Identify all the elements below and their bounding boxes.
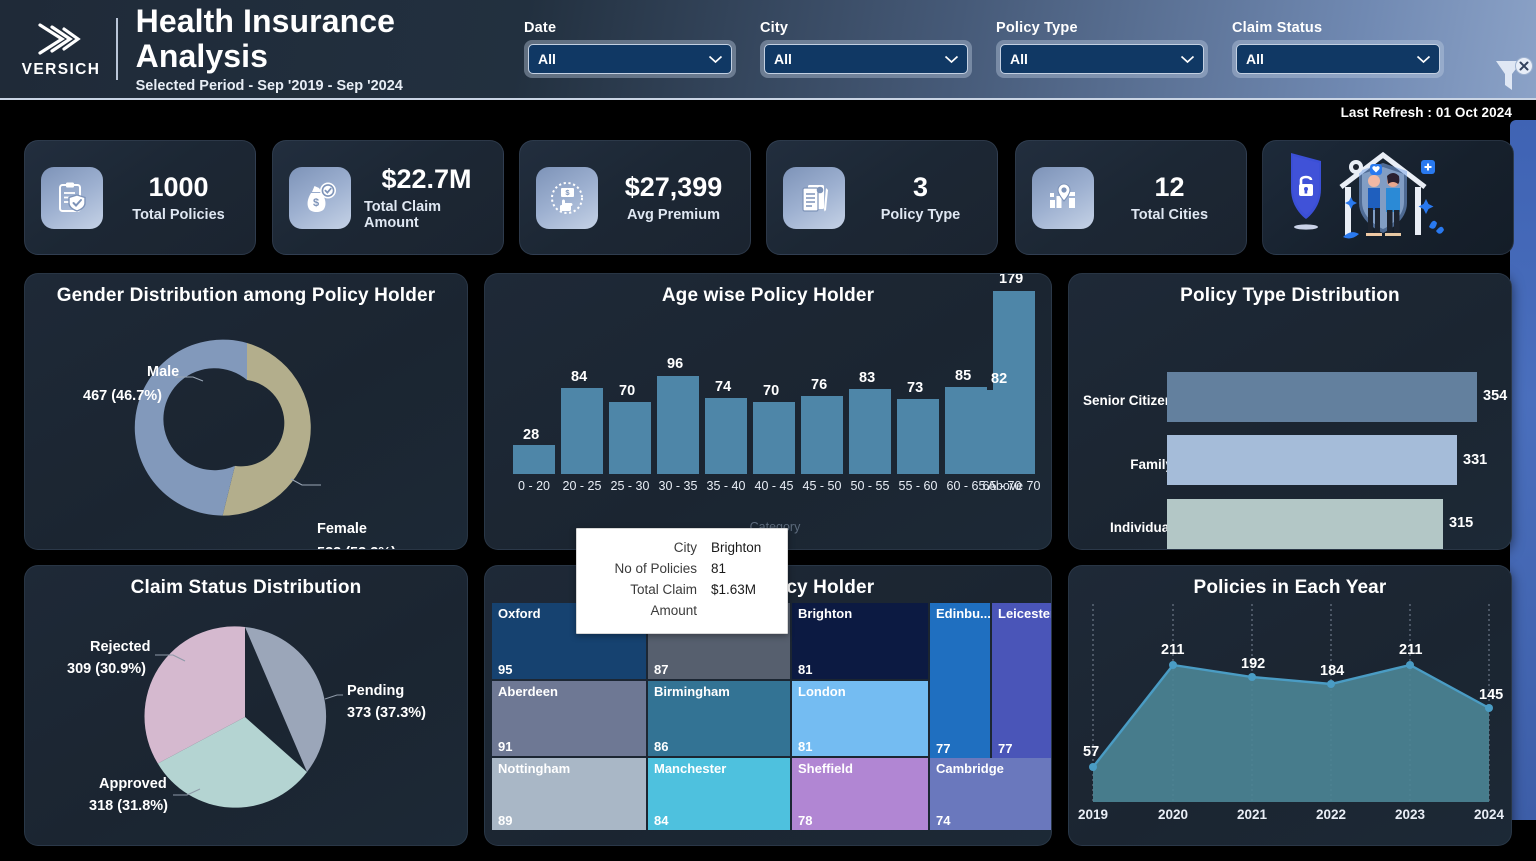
filter-city: City All [760,20,972,78]
logo: VERSICH [22,19,100,79]
hbar-label-family: Family [1069,457,1173,472]
bar-value-0-20: 28 [523,427,539,443]
kpi-value: 3 [913,172,928,203]
treemap-label: Edinbu... [936,606,990,621]
bar-35-40[interactable] [705,398,747,474]
pie-label-rejected-name: Rejected [90,639,150,655]
area-value-2021: 192 [1241,656,1265,672]
axis-tick-2022: 2022 [1307,807,1355,822]
treemap-value: 84 [654,813,668,828]
clear-filter-icon [1490,54,1536,98]
area-chart-svg [1069,599,1512,840]
bar-25-30[interactable] [609,402,651,474]
axis-tick-above-70: Above 70 [985,479,1043,495]
chart-policy-type-bars[interactable]: Senior Citizen Family Individual 354 331… [1069,307,1511,542]
treemap-label: London [798,684,846,699]
axis-tick-2023: 2023 [1386,807,1434,822]
kpi-card-total-policies[interactable]: 1000 Total Policies [24,140,256,255]
treemap-cell-cambridge[interactable]: Cambridge 74 [930,758,1052,830]
hbar-family[interactable] [1167,435,1457,485]
treemap-label: Aberdeen [498,684,558,699]
tooltip-key: No of Policies [614,559,697,580]
axis-tick-25-30: 25 - 30 [603,479,657,493]
filter-date-label: Date [524,20,736,36]
treemap-value: 74 [936,813,950,828]
axis-tick-2024: 2024 [1465,807,1512,822]
treemap-label: Leicester [998,606,1052,621]
axis-tick-2021: 2021 [1228,807,1276,822]
bar-value-60-65: 85 [955,368,971,384]
documents-icon [783,167,845,229]
panel-policies-in-each-year: Policies in Each Year [1068,565,1512,846]
hbar-value-individual: 315 [1449,515,1473,531]
chevron-down-icon [1416,55,1431,64]
axis-tick-45-50: 45 - 50 [795,479,849,493]
hbar-individual[interactable] [1167,499,1443,549]
kpi-label: Total Cities [1131,207,1208,223]
treemap-value: 81 [798,662,812,677]
pie-label-pending-name: Pending [347,683,404,699]
chart-age-bars[interactable]: 28 84 70 96 74 70 76 83 73 85 82 179 0 -… [485,307,1051,542]
chevron-down-icon [708,55,723,64]
bar-30-35[interactable] [657,376,699,474]
axis-tick-30-35: 30 - 35 [651,479,705,493]
area-value-2019: 57 [1083,744,1099,760]
bar-value-above-70: 179 [999,273,1023,287]
treemap-value: 78 [798,813,812,828]
axis-tick-20-25: 20 - 25 [555,479,609,493]
kpi-card-total-claim-amount[interactable]: $ $22.7M Total Claim Amount [272,140,504,255]
panel-title: Policies in Each Year [1069,566,1511,599]
chart-tooltip: City Brighton No of Policies 81 Total Cl… [576,528,788,634]
hbar-value-senior-citizen: 354 [1483,388,1507,404]
tooltip-value: $1.63M [711,580,773,622]
treemap-value: 89 [498,813,512,828]
panel-title: Gender Distribution among Policy Holder [25,274,467,307]
bar-value-55-60: 73 [907,380,923,396]
brand-name: VERSICH [22,61,101,79]
treemap-label: Cambridge [936,761,1004,776]
bar-value-35-40: 74 [715,379,731,395]
tooltip-row-city: City Brighton [591,538,773,559]
treemap-value: 95 [498,662,512,677]
kpi-value: 12 [1154,172,1184,203]
treemap-value: 77 [998,741,1012,756]
treemap-value: 86 [654,739,668,754]
hand-money-icon: $ [536,167,598,229]
hbar-label-individual: Individual [1069,520,1173,535]
dashboard-header: VERSICH Health Insurance Analysis Select… [0,0,1536,100]
filter-date: Date All [524,20,736,78]
kpi-label: Total Policies [132,207,224,223]
brand-divider [116,18,118,80]
filter-claim-status-shell: All [1232,40,1444,78]
bar-50-55[interactable] [849,389,891,474]
chart-policies-area[interactable]: 57 211 192 184 211 145 2019 2020 2021 20… [1069,599,1511,838]
filter-city-dropdown[interactable]: All [764,44,968,74]
treemap-value: 91 [498,739,512,754]
treemap-label: Sheffield [798,761,853,776]
filter-city-shell: All [760,40,972,78]
treemap-value: 81 [798,739,812,754]
bar-value-45-50: 76 [811,377,827,393]
hero-illustration-card [1262,140,1514,255]
tooltip-value: Brighton [711,538,773,559]
kpi-card-total-cities[interactable]: 12 Total Cities [1015,140,1247,255]
chart-claim-status-pie[interactable]: Rejected 309 (30.9%) Pending 373 (37.3%)… [25,599,467,838]
last-refresh-label: Last Refresh : 01 Oct 2024 [1341,105,1512,120]
bar-value-30-35: 96 [667,356,683,372]
treemap-label: Birmingham [654,684,730,699]
axis-tick-2020: 2020 [1149,807,1197,822]
filter-date-shell: All [524,40,736,78]
treemap-cell-manchester[interactable]: Manchester 84 [648,758,790,830]
insurance-family-illustration-icon [1263,141,1514,255]
kpi-value: 1000 [148,172,208,203]
kpi-label: Total Claim Amount [364,199,489,231]
tooltip-value: 81 [711,559,773,580]
kpi-card-policy-type[interactable]: 3 Policy Type [766,140,998,255]
axis-tick-40-45: 40 - 45 [747,479,801,493]
panel-policy-type-distribution: Policy Type Distribution Senior Citizen … [1068,273,1512,550]
axis-tick-0-20: 0 - 20 [507,479,561,493]
bar-20-25[interactable] [561,388,603,474]
area-value-2022: 184 [1320,663,1344,679]
filter-claim-status-dropdown[interactable]: All [1236,44,1440,74]
pie-label-approved-name: Approved [99,776,167,792]
chart-city-treemap[interactable]: Oxford 95 Liverpool 87 Brighton 81 Edinb… [485,599,1051,838]
treemap-cell-leicester[interactable]: Leicester 77 [992,603,1052,758]
tooltip-key: Total Claim Amount [591,580,697,622]
axis-tick-2019: 2019 [1069,807,1117,822]
chevron-down-icon [944,55,959,64]
filter-claim-status-label: Claim Status [1232,20,1444,36]
hbar-label-senior-citizen: Senior Citizen [1069,393,1173,408]
treemap-cell-aberdeen[interactable]: Aberdeen 91 [492,681,646,756]
donut-chart-svg [25,307,468,544]
money-bag-icon: $ [289,167,351,229]
kpi-label: Avg Premium [627,207,720,223]
map-pin-icon [1032,167,1094,229]
hbar-value-family: 331 [1463,452,1487,468]
dashboard-page: VERSICH Health Insurance Analysis Select… [0,0,1536,861]
treemap-grid: Oxford 95 Liverpool 87 Brighton 81 Edinb… [492,603,1052,830]
panel-age-wise-policy-holder: Age wise Policy Holder 28 84 70 96 74 70… [484,273,1052,550]
bar-45-50[interactable] [801,396,843,474]
treemap-label: Oxford [498,606,541,621]
area-value-2020: 211 [1161,642,1184,658]
area-value-2024: 145 [1479,687,1503,703]
bar-value-20-25: 84 [571,369,587,385]
treemap-label: Manchester [654,761,726,776]
filter-city-value: All [774,51,792,67]
tooltip-key: City [674,538,697,559]
pie-label-rejected-value: 309 (30.9%) [67,661,146,677]
bar-value-40-45: 70 [763,383,779,399]
panel-claim-status-distribution: Claim Status Distribution Rejected 309 (… [24,565,468,846]
kpi-value: $27,399 [625,172,723,203]
panel-title: Age wise Policy Holder [485,274,1051,307]
bar-0-20[interactable] [513,445,555,474]
tooltip-row-no-of-policies: No of Policies 81 [591,559,773,580]
versich-chevron-icon [32,19,90,59]
chevron-down-icon [1180,55,1195,64]
filter-policy-type-label: Policy Type [996,20,1208,36]
treemap-cell-nottingham[interactable]: Nottingham 89 [492,758,646,830]
kpi-card-avg-premium[interactable]: $ $27,399 Avg Premium [519,140,751,255]
filter-policy-type-dropdown[interactable]: All [1000,44,1204,74]
kpi-value: $22.7M [381,164,471,195]
tooltip-row-total-claim-amount: Total Claim Amount $1.63M [591,580,773,622]
panel-gender-distribution: Gender Distribution among Policy Holder … [24,273,468,550]
panel-title: Policy Type Distribution [1069,274,1511,307]
filter-claim-status: Claim Status All [1232,20,1444,78]
treemap-cell-edinburgh[interactable]: Edinbu... 77 [930,603,990,758]
clipboard-shield-icon [41,167,103,229]
filter-bar: Date All City All Policy T [524,20,1536,98]
page-title: Health Insurance Analysis [136,4,458,73]
bar-value-65-70: 82 [991,371,1007,387]
clear-filters-button[interactable] [1490,54,1536,98]
bar-value-50-55: 83 [859,370,875,386]
treemap-label: Brighton [798,606,852,621]
treemap-cell-sheffield[interactable]: Sheffield 78 [792,758,928,830]
treemap-cell-london[interactable]: London 81 [792,681,928,756]
svg-text:$: $ [313,197,319,209]
treemap-label: Nottingham [498,761,570,776]
filter-claim-status-value: All [1246,51,1264,67]
page-subtitle: Selected Period - Sep '2019 - Sep '2024 [136,78,458,94]
pie-label-approved-value: 318 (31.8%) [89,798,168,814]
treemap-cell-brighton[interactable]: Brighton 81 [792,603,928,679]
pie-label-pending-value: 373 (37.3%) [347,705,426,721]
axis-tick-55-60: 55 - 60 [891,479,945,493]
bar-value-25-30: 70 [619,383,635,399]
filter-policy-type: Policy Type All [996,20,1208,78]
axis-tick-35-40: 35 - 40 [699,479,753,493]
treemap-value: 87 [654,662,668,677]
filter-date-dropdown[interactable]: All [528,44,732,74]
axis-tick-50-55: 50 - 55 [843,479,897,493]
filter-date-value: All [538,51,556,67]
treemap-cell-birmingham[interactable]: Birmingham 86 [648,681,790,756]
brand-block: VERSICH Health Insurance Analysis Select… [0,0,458,98]
treemap-value: 77 [936,741,950,756]
donut-label-female-name: Female [317,521,367,537]
area-value-2023: 211 [1399,642,1422,658]
bar-55-60[interactable] [897,399,939,474]
kpi-label: Policy Type [881,207,961,223]
filter-policy-type-value: All [1010,51,1028,67]
chart-gender-donut[interactable]: Male 467 (46.7%) Female 533 (53.3%) [25,307,467,542]
donut-label-male-name: Male [147,364,179,380]
kpi-card-row: 1000 Total Policies $ $22.7M Total Claim… [0,140,1536,255]
donut-label-male-value: 467 (46.7%) [83,388,162,404]
bar-40-45[interactable] [753,402,795,474]
donut-label-female-value: 533 (53.3%) [317,545,396,550]
filter-city-label: City [760,20,972,36]
hbar-senior-citizen[interactable] [1167,372,1477,422]
panel-title: Claim Status Distribution [25,566,467,599]
filter-policy-type-shell: All [996,40,1208,78]
